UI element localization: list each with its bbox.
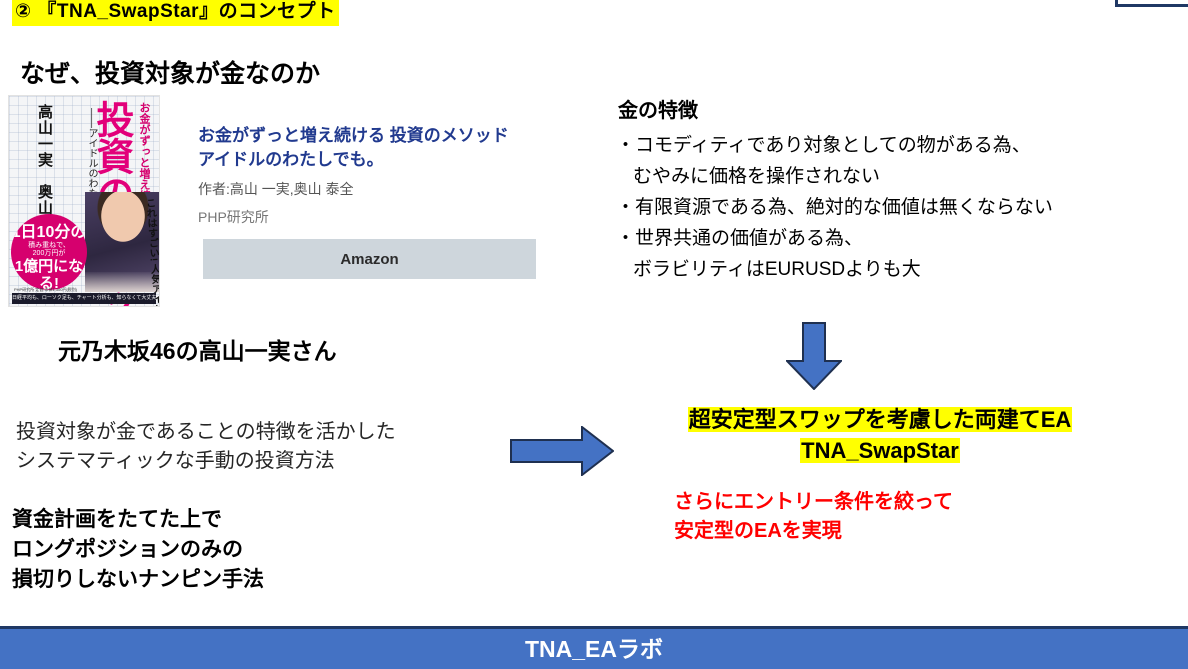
arrow-right-icon bbox=[510, 426, 614, 476]
cover-badge: 1日10分の 積み重ねで、 200万円が 1億円になる! bbox=[11, 214, 87, 290]
method-line-1: 投資対象が金であることの特徴を活かした bbox=[16, 418, 396, 447]
list-item: ・コモディティであり対象としての物がある為、 むやみに価格を操作されない bbox=[616, 130, 1186, 192]
plan-description: 資金計画をたてた上で ロングポジションのみの 損切りしないナンピン手法 bbox=[12, 505, 264, 595]
plan-line-1: 資金計画をたてた上で bbox=[12, 505, 264, 535]
method-line-2: システマティックな手動の投資方法 bbox=[16, 447, 396, 476]
plan-line-2: ロングポジションのみの bbox=[12, 535, 264, 565]
bullet-marker: ・ bbox=[616, 228, 635, 249]
bullet-marker: ・ bbox=[616, 135, 635, 156]
cover-badge-line1: 1日10分の bbox=[11, 224, 87, 242]
book-title-line1: お金がずっと増え続ける 投資のメソッド bbox=[198, 124, 558, 148]
cover-badge-line3: 200万円が bbox=[11, 250, 87, 258]
bullet-text: 世界共通の価値がある為、 bbox=[635, 228, 863, 249]
result-note-line-2: 安定型のEAを実現 bbox=[674, 517, 953, 546]
gold-features-heading: 金の特徴 bbox=[618, 98, 698, 124]
plan-line-3: 損切りしないナンピン手法 bbox=[12, 565, 264, 595]
amazon-button[interactable]: Amazon bbox=[203, 239, 536, 279]
result-callout: 超安定型スワップを考慮した両建てEA TNA_SwapStar bbox=[640, 404, 1120, 466]
book-title-line2: アイドルのわたしでも。 bbox=[198, 148, 558, 172]
section-title: ② 『TNA_SwapStar』のコンセプト bbox=[12, 0, 339, 26]
list-item: ・有限資源である為、絶対的な価値は無くならない bbox=[616, 192, 1186, 223]
bullet-text: 有限資源である為、絶対的な価値は無くならない bbox=[635, 197, 1053, 218]
result-note-line-1: さらにエントリー条件を絞って bbox=[674, 488, 953, 517]
book-cover-image: 高山一実 奥山泰全 お金がずっと増え続ける 投資のメソッド ――アイドルのわたし… bbox=[8, 95, 160, 307]
gold-features-list: ・コモディティであり対象としての物がある為、 むやみに価格を操作されない ・有限… bbox=[616, 130, 1186, 285]
bullet-text-cont: ボラビリティはEURUSDよりも大 bbox=[616, 254, 1186, 285]
book-title: お金がずっと増え続ける 投資のメソッド アイドルのわたしでも。 bbox=[198, 124, 558, 172]
book-publisher: PHP研究所 bbox=[198, 208, 269, 227]
person-caption: 元乃木坂46の高山一実さん bbox=[58, 335, 337, 367]
footer-bar: TNA_EAラボ bbox=[0, 626, 1188, 669]
question-heading: なぜ、投資対象が金なのか bbox=[20, 58, 320, 90]
bullet-text-cont: むやみに価格を操作されない bbox=[616, 161, 1186, 192]
cover-badge-line2: 積み重ねで、 bbox=[11, 242, 87, 250]
arrow-down-icon bbox=[786, 322, 842, 390]
result-line-1: 超安定型スワップを考慮した両建てEA bbox=[688, 407, 1073, 432]
list-item: ・世界共通の価値がある為、 ボラビリティはEURUSDよりも大 bbox=[616, 223, 1186, 285]
result-note: さらにエントリー条件を絞って 安定型のEAを実現 bbox=[674, 488, 953, 546]
book-author: 作者:高山 一実,奥山 泰全 bbox=[198, 180, 354, 199]
cover-imprint: PHP研究所 定価 本体1,300円(税別) bbox=[14, 287, 77, 292]
method-description: 投資対象が金であることの特徴を活かした システマティックな手動の投資方法 bbox=[16, 418, 396, 476]
bullet-text: コモディティであり対象としての物がある為、 bbox=[635, 135, 1031, 156]
cover-kicker: お金がずっと増え続ける bbox=[137, 102, 150, 162]
slide-canvas: ② 『TNA_SwapStar』のコンセプト なぜ、投資対象が金なのか 高山一実… bbox=[0, 0, 1188, 669]
result-line-2: TNA_SwapStar bbox=[800, 438, 960, 463]
top-right-frame-rule bbox=[1115, 4, 1188, 7]
bullet-marker: ・ bbox=[616, 197, 635, 218]
cover-bottom-strip: 日経平均も、ローソク足も、チャート分析も、知らなくて大丈夫! bbox=[12, 293, 156, 304]
